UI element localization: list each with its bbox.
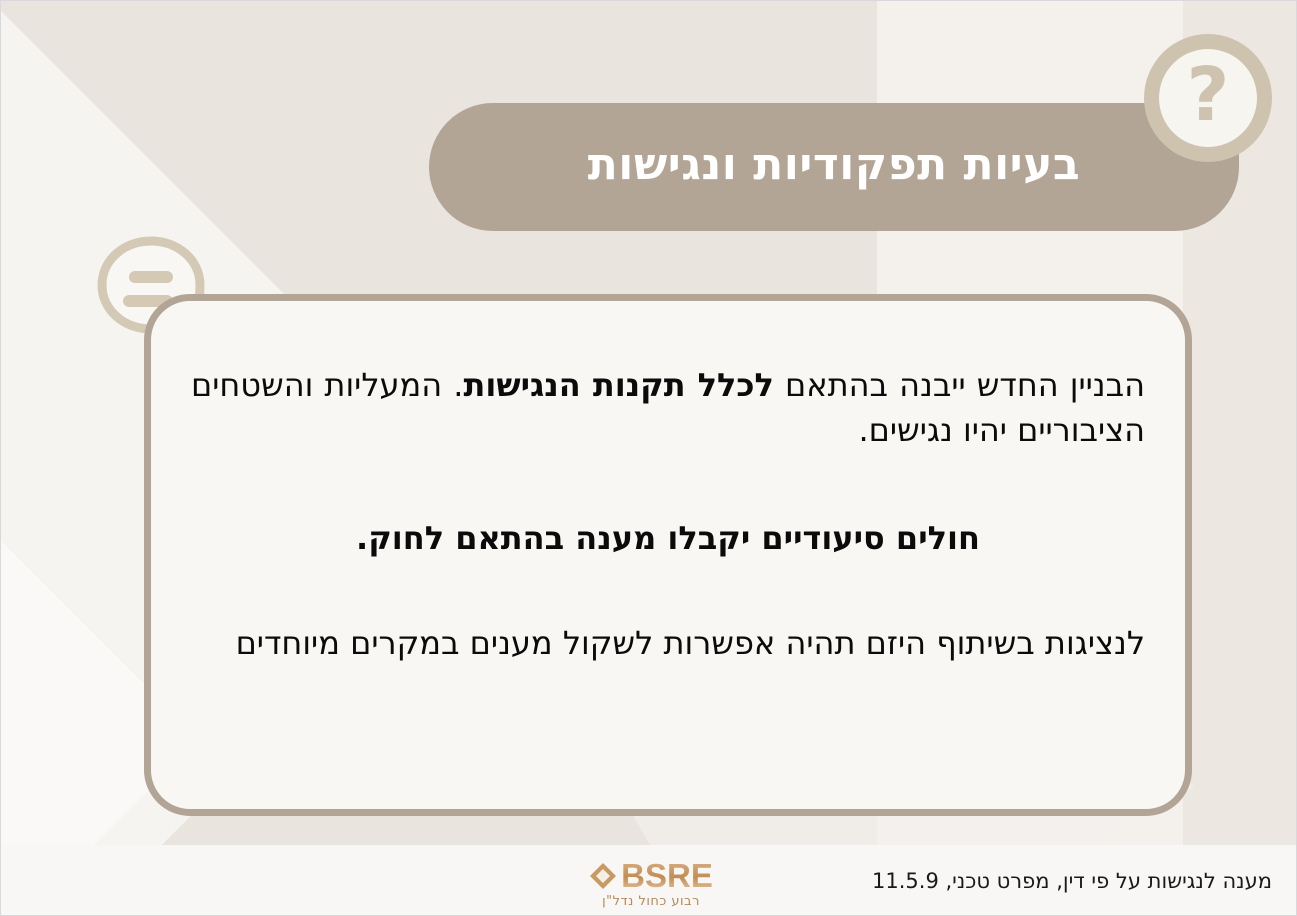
slide-title: בעיות תפקודיות ונגישות (588, 143, 1081, 191)
diamond-icon (589, 862, 617, 890)
question-mark-icon: ? (1144, 34, 1272, 162)
paragraph-spacer-2 (191, 561, 1145, 621)
paragraph-spacer-1 (191, 454, 1145, 516)
paragraph-nursing-patients: חולים סיעודיים יקבלו מענה בהתאם לחוק. (191, 516, 1145, 561)
paragraph-1-lead: הבניין החדש ייבנה בהתאם (774, 366, 1145, 404)
slide-canvas: בעיות תפקודיות ונגישות ? הבניין החדש ייב… (0, 0, 1297, 916)
paragraph-representation-options: לנציגות בשיתוף היזם תהיה אפשרות לשקול מע… (191, 621, 1145, 666)
question-mark-icon-disc: ? (1159, 49, 1257, 147)
question-mark-glyph: ? (1187, 58, 1230, 132)
slide-title-banner: בעיות תפקודיות ונגישות (429, 103, 1239, 231)
bsre-logo: BSRE רבוע כחול נדל"ן (566, 859, 736, 909)
content-panel: הבניין החדש ייבנה בהתאם לכלל תקנות הנגיש… (144, 294, 1192, 816)
paragraph-accessibility-regulations: הבניין החדש ייבנה בהתאם לכלל תקנות הנגיש… (191, 363, 1145, 454)
bsre-tagline: רבוע כחול נדל"ן (566, 894, 736, 909)
content-body: הבניין החדש ייבנה בהתאם לכלל תקנות הנגיש… (191, 363, 1145, 667)
footer-caption: מענה לנגישות על פי דין, מפרט טכני, 11.5.… (872, 869, 1272, 893)
bsre-wordmark: BSRE (621, 859, 713, 892)
bsre-logo-row: BSRE (566, 859, 736, 892)
paragraph-1-bold: לכלל תקנות הנגישות (463, 366, 773, 404)
